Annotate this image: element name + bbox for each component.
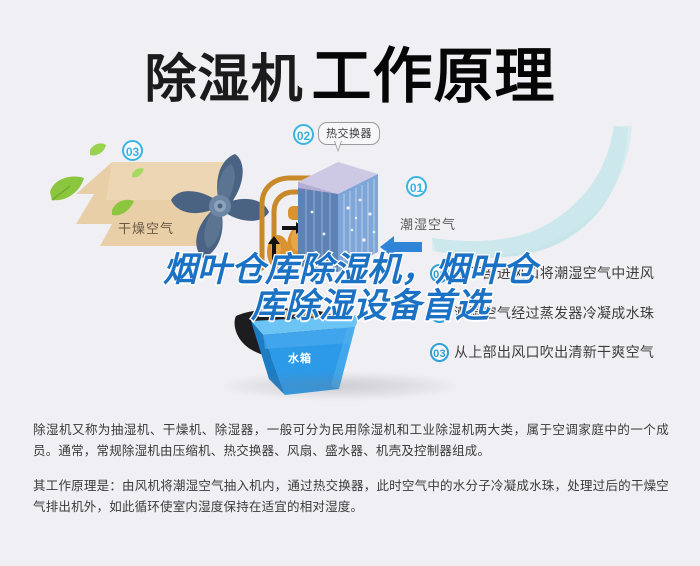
dehumidifier-diagram: 水箱 03 02 01 热交换器 干燥空气 潮湿空气 01从下部进风口将潮湿空气… <box>0 118 700 403</box>
diagram-badge-03: 03 <box>122 140 143 161</box>
page-title-part2: 工作原理 <box>312 43 556 110</box>
step-badge-03: 03 <box>430 343 449 362</box>
poster-root: 除湿机工作原理 <box>0 0 700 566</box>
step-text-01: 从下部进风口将潮湿空气中进风 <box>454 265 654 281</box>
diagram-badge-02: 02 <box>293 124 314 145</box>
article-body: 除湿机又称为抽湿机、干燥机、除湿器，一般可分为民用除湿机和工业除湿机两大类，属于… <box>33 420 669 518</box>
humid-air-label: 潮湿空气 <box>400 214 456 233</box>
step-badge-02: 02 <box>430 304 449 323</box>
water-tank-label: 水箱 <box>288 350 312 366</box>
body-paragraph-1: 除湿机又称为抽湿机、干燥机、除湿器，一般可分为民用除湿机和工业除湿机两大类，属于… <box>33 420 669 462</box>
heat-exchanger-icon <box>292 148 384 278</box>
page-title-part1: 除湿机 <box>144 51 303 109</box>
step-text-02: 潮湿空气经过蒸发器冷凝成水珠 <box>454 305 654 321</box>
heat-exchanger-callout: 热交换器 <box>318 122 380 145</box>
step-description-01: 01从下部进风口将潮湿空气中进风 <box>430 263 654 283</box>
ground-shadow <box>225 373 455 399</box>
air-inlet-arrow-icon <box>378 236 424 260</box>
step-text-03: 从上部出风口吹出清新干爽空气 <box>454 344 654 360</box>
dry-air-label: 干燥空气 <box>118 218 174 237</box>
step-badge-01: 01 <box>430 264 449 283</box>
callout-tail-icon <box>334 141 342 152</box>
page-title: 除湿机工作原理 <box>0 28 700 115</box>
step-description-03: 03从上部出风口吹出清新干爽空气 <box>430 342 654 362</box>
diagram-badge-01: 01 <box>406 176 427 197</box>
step-description-02: 02潮湿空气经过蒸发器冷凝成水珠 <box>430 303 654 323</box>
body-paragraph-2: 其工作原理是：由风机将潮湿空气抽入机内，通过热交换器，此时空气中的水分子冷凝成水… <box>33 476 669 518</box>
